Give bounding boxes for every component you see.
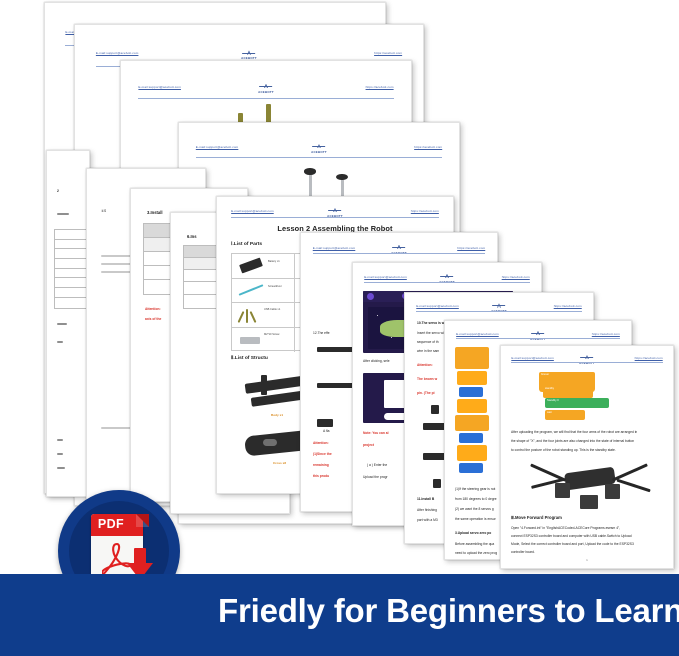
servo-sub-body-2: part with a M3 bbox=[417, 518, 438, 522]
screw-head-icon bbox=[304, 168, 316, 174]
servo-sub-heading: 11.Install B bbox=[417, 497, 434, 501]
zero-line-4: the same operation is ensur bbox=[455, 517, 496, 521]
servo-sub-body-1: After finishing bbox=[417, 508, 437, 512]
servo-body-2: sequence of th bbox=[417, 340, 439, 344]
servo-body-3: wire in the sam bbox=[417, 349, 439, 353]
header-email: E-mail:support@acebott.com bbox=[196, 145, 239, 149]
attention-text: axis of the bbox=[145, 317, 161, 321]
section-list-of-parts: Ⅰ.List of Parts bbox=[231, 243, 262, 247]
pdf-preview-stage: E-mail:support@acebott.com ACEBOTT https… bbox=[0, 0, 679, 656]
page5-heading: 2 bbox=[57, 189, 59, 193]
part-caption: Battery x1 bbox=[268, 260, 280, 263]
header-rule bbox=[364, 282, 529, 283]
scratch-block bbox=[455, 347, 489, 369]
text-line bbox=[57, 341, 63, 343]
parts-cell: M2*10 Screw bbox=[232, 328, 295, 353]
acebott-wordmark: ACEBOTT bbox=[258, 90, 274, 94]
servo-photo-icon bbox=[431, 405, 439, 414]
scratch-block-label: standby bbox=[543, 386, 593, 391]
document-page-move-forward[interactable]: E-mail:support@acebott.com ACEBOTT https… bbox=[500, 345, 674, 569]
scratch-inner-block: standby bbox=[543, 386, 593, 398]
acebott-logo: ACEBOTT bbox=[530, 331, 546, 341]
header-website: https://acebott.com bbox=[374, 51, 402, 55]
structure-label-body: Body x1 bbox=[271, 413, 283, 417]
software-note-2: project bbox=[363, 443, 374, 447]
acebott-mark-icon bbox=[439, 274, 454, 280]
robot-leg-icon bbox=[616, 479, 651, 493]
acebott-mark-icon bbox=[530, 331, 545, 337]
header-website: https://acebott.com bbox=[554, 304, 582, 308]
header-rule bbox=[416, 311, 581, 312]
header-website: https://acebott.com bbox=[635, 356, 663, 360]
page-number: 1 bbox=[586, 558, 588, 562]
acebott-wordmark: ACEBOTT bbox=[311, 150, 327, 154]
part-caption: USB Cable x1 bbox=[264, 308, 280, 311]
header-email: E-mail:support@acebott.com bbox=[456, 332, 499, 336]
section-list-of-structure: Ⅱ.List of Structu bbox=[231, 357, 268, 361]
software-caption: After clicking, sele bbox=[363, 359, 390, 363]
document-page-5[interactable]: 2 bbox=[46, 150, 90, 497]
header-rule bbox=[196, 157, 442, 158]
banner-caption: Friedly for Beginners to Learn bbox=[218, 592, 671, 630]
scratch-standby-block: Standby 0 bbox=[545, 398, 609, 408]
acebott-mark-icon bbox=[258, 84, 273, 90]
robot-servo-icon bbox=[555, 483, 570, 498]
page6-item: ①S bbox=[101, 209, 106, 213]
acebott-mark-icon bbox=[311, 144, 326, 150]
app-logo-icon bbox=[367, 293, 374, 300]
acebott-logo: ACEBOTT bbox=[258, 84, 274, 94]
cable-part-icon bbox=[238, 311, 245, 323]
software-note: Note: You can al bbox=[363, 431, 389, 435]
bottom-banner: Friedly for Beginners to Learn bbox=[0, 574, 679, 656]
acebott-logo: ACEBOTT bbox=[241, 50, 257, 60]
mf-body-3: Mode, Select the correct controller boar… bbox=[511, 542, 634, 546]
text-line bbox=[57, 453, 63, 455]
effect-line: A fla bbox=[323, 429, 329, 433]
wire-part-icon bbox=[239, 284, 264, 296]
page-header: E-mail:support@acebott.com ACEBOTT https… bbox=[196, 145, 442, 154]
software-step-2: Upload the progr bbox=[363, 475, 388, 479]
page-header: E-mail:support@acebott.com ACEBOTT https… bbox=[456, 332, 620, 341]
header-website: https://acebott.com bbox=[366, 85, 394, 89]
header-email: E-mail:support@acebott.com bbox=[138, 85, 181, 89]
acebott-mark-icon bbox=[491, 303, 506, 309]
attention-line-2: pin. (The pi bbox=[417, 391, 435, 395]
scratch-block-label: Standby 0 bbox=[545, 398, 609, 403]
attention-line-1: The brown w bbox=[417, 377, 437, 381]
zero-line-2: from 180 degrees to 0 degre bbox=[455, 497, 497, 501]
spec-table bbox=[54, 229, 90, 309]
part-caption: M2*10 Screw bbox=[264, 333, 279, 336]
lesson-title: Lesson 2 Assembling the Robot bbox=[277, 227, 392, 231]
acebott-mark-icon bbox=[327, 208, 342, 214]
page-header: E-mail:support@acebott.com ACEBOTT https… bbox=[138, 85, 393, 94]
text-line bbox=[57, 213, 69, 215]
acebott-logo: ACEBOTT bbox=[311, 144, 327, 154]
parts-cell: Battery x1 bbox=[232, 254, 295, 279]
attention-line-2: remaining bbox=[313, 463, 329, 467]
robot-servo-icon bbox=[605, 484, 620, 499]
chassis-post-icon bbox=[261, 375, 267, 395]
acebott-logo: ACEBOTT bbox=[579, 355, 595, 365]
attention-line-3: this produ bbox=[313, 474, 329, 478]
header-email: E-mail:support@acebott.com bbox=[416, 304, 459, 308]
robot-servo-icon bbox=[580, 495, 598, 509]
header-rule bbox=[511, 362, 662, 363]
acebott-logo: ACEBOTT bbox=[491, 303, 507, 313]
intro-line-2: the shape of "X", and the four joints ar… bbox=[511, 439, 634, 443]
mf-body-1: Open "4.Forward.int" in "EnglishACECoded… bbox=[511, 526, 620, 530]
header-rule bbox=[313, 253, 486, 254]
page-header: E-mail:support@acebott.com ACEBOTT https… bbox=[416, 304, 581, 313]
part-caption: Screwdriver bbox=[268, 285, 282, 288]
scratch-block bbox=[459, 387, 483, 397]
robot-photo bbox=[527, 454, 653, 512]
zero-body-1: Before assembling the qua bbox=[455, 542, 494, 546]
header-email: E-mail:support@acebott.com bbox=[96, 51, 139, 55]
zero-line-3: (2) we want the 8 servos g bbox=[455, 507, 494, 511]
bracket-photo-icon bbox=[317, 419, 333, 427]
text-line bbox=[57, 323, 67, 325]
header-website: https://acebott.com bbox=[502, 275, 530, 279]
attention-line-1: (1)Since the bbox=[313, 452, 332, 456]
scratch-program: forever standby Standby 0 wait bbox=[539, 372, 631, 420]
header-rule bbox=[138, 98, 393, 99]
header-website: https://acebott.com bbox=[414, 145, 442, 149]
zero-line-1: (1)If the steering gear is not bbox=[455, 487, 495, 491]
acebott-mark-icon bbox=[391, 245, 406, 251]
servo-photo-icon bbox=[433, 479, 441, 488]
scratch-block-label: forever bbox=[539, 372, 595, 377]
page-header: E-mail:support@acebott.com ACEBOTT https… bbox=[364, 275, 529, 284]
attention-label: Attention: bbox=[145, 307, 161, 311]
header-rule bbox=[456, 338, 620, 339]
scratch-block-label: wait bbox=[545, 410, 585, 415]
mf-body-2: connect ESP32S3 controller board and com… bbox=[511, 534, 632, 538]
zero-body-2: need to upload the zero prog bbox=[455, 551, 497, 555]
header-website: https://acebott.com bbox=[411, 209, 439, 213]
acebott-mark-icon bbox=[579, 355, 594, 361]
scratch-block bbox=[459, 463, 483, 473]
move-forward-heading: Ⅲ.Move Forward Program bbox=[511, 516, 562, 520]
page8-heading: 6.Ins bbox=[187, 235, 197, 239]
attention-label: Attention: bbox=[417, 363, 433, 367]
screw-pack-icon bbox=[240, 337, 260, 344]
scratch-wait-block: wait bbox=[545, 410, 585, 420]
scratch-block bbox=[455, 415, 489, 431]
page7-heading: 3.Install bbox=[147, 211, 163, 215]
intro-line-1: After uploading the program, we will fin… bbox=[511, 430, 637, 434]
effect-note: 12.The effe bbox=[313, 331, 330, 335]
attention-label: Attention: bbox=[313, 441, 329, 445]
page-header: E-mail:support@acebott.com ACEBOTT https… bbox=[511, 356, 662, 365]
cable-part-icon bbox=[246, 309, 248, 323]
header-website: https://acebott.com bbox=[592, 332, 620, 336]
cross-hole-icon bbox=[263, 439, 277, 446]
intro-line-3: to control the posture of the robot stan… bbox=[511, 448, 616, 452]
text-line bbox=[57, 467, 65, 469]
acebott-mark-icon bbox=[241, 50, 256, 56]
parts-cell: USB Cable x1 bbox=[232, 303, 295, 328]
header-website: https://acebott.com bbox=[457, 246, 485, 250]
screw-head-icon bbox=[336, 174, 348, 180]
header-email: E-mail:support@acebott.com bbox=[364, 275, 407, 279]
header-email: E-mail:support@acebott.com bbox=[511, 356, 554, 360]
cable-part-icon bbox=[250, 311, 257, 323]
battery-part-icon bbox=[239, 258, 263, 274]
pdf-label: PDF bbox=[91, 517, 131, 531]
scratch-block bbox=[457, 371, 487, 385]
header-email: E-mail:support@acebott.com bbox=[313, 246, 356, 250]
scratch-block bbox=[457, 399, 487, 413]
software-step: ( a ) Enter the bbox=[367, 463, 387, 467]
scratch-program-column bbox=[455, 347, 489, 479]
header-email: E-mail:support@acebott.com bbox=[231, 209, 274, 213]
scratch-block bbox=[457, 445, 487, 461]
zero-heading: 3.Upload servo zero po bbox=[455, 531, 491, 535]
mf-body-4: controller board. bbox=[511, 550, 535, 554]
scratch-block bbox=[459, 433, 483, 443]
structure-label-cross: Cross x8 bbox=[273, 461, 286, 465]
text-line bbox=[57, 439, 63, 441]
header-rule bbox=[231, 217, 439, 218]
parts-cell: Screwdriver bbox=[232, 279, 295, 304]
